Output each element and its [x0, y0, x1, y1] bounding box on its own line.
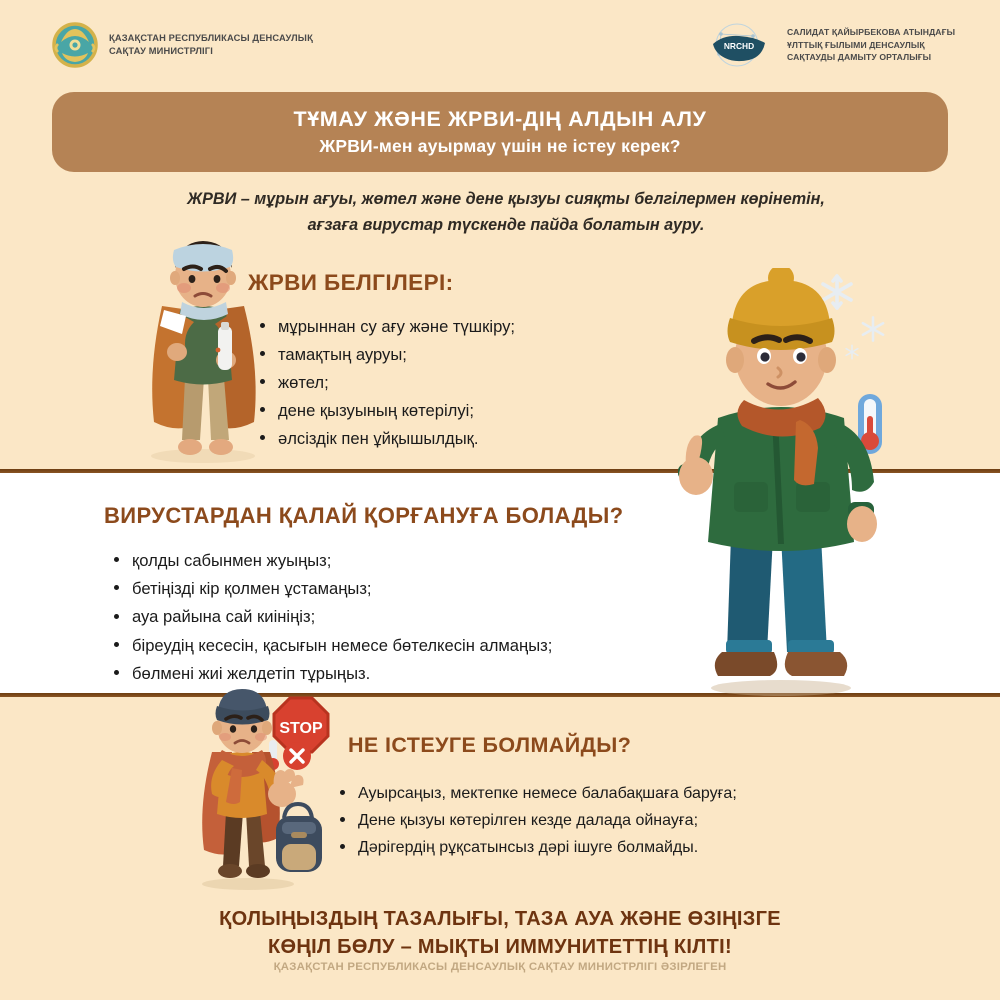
list-item: тамақтың ауруы;	[256, 341, 515, 369]
footer-slogan-line1: ҚОЛЫҢЫЗДЫҢ ТАЗАЛЫҒЫ, ТАЗА АУА ЖӘНЕ ӨЗІҢІ…	[150, 905, 850, 933]
banner-title: ТҰМАУ ЖӘНЕ ЖРВИ-ДІҢ АЛДЫН АЛУ	[293, 107, 706, 132]
symptoms-heading: ЖРВИ БЕЛГІЛЕРІ:	[248, 270, 454, 296]
ministry-logo-block: ҚАЗАҚСТАН РЕСПУБЛИКАСЫ ДЕНСАУЛЫҚ САҚТАУ …	[52, 22, 313, 68]
footer-slogan-line2: КӨҢІЛ БӨЛУ – МЫҚТЫ ИММУНИТЕТТІҢ КІЛТІ!	[150, 933, 850, 961]
list-item: дене қызуының көтерілуі;	[256, 397, 515, 425]
list-item: жөтел;	[256, 369, 515, 397]
ministry-logo-text: ҚАЗАҚСТАН РЕСПУБЛИКАСЫ ДЕНСАУЛЫҚ САҚТАУ …	[109, 32, 313, 58]
nrchd-logo-line3: САҚТАУДЫ ДАМЫТУ ОРТАЛЫҒЫ	[787, 51, 955, 63]
list-item: Дәрігердің рұқсатынсыз дәрі ішуге болмай…	[336, 834, 737, 861]
list-item: Ауырсаңыз, мектепке немесе балабақшаға б…	[336, 780, 737, 807]
avoid-heading: НЕ ІСТЕУГЕ БОЛМАЙДЫ?	[348, 733, 631, 758]
title-banner: ТҰМАУ ЖӘНЕ ЖРВИ-ДІҢ АЛДЫН АЛУ ЖРВИ-мен а…	[52, 92, 948, 172]
nrchd-logo-text: САЛИДАТ ҚАЙЫРБЕКОВА АТЫНДАҒЫ ҰЛТТЫҚ ҒЫЛЫ…	[787, 26, 955, 63]
protection-heading: ВИРУСТАРДАН ҚАЛАЙ ҚОРҒАНУҒА БОЛАДЫ?	[104, 503, 624, 529]
list-item: ауа райына сай киініңіз;	[110, 603, 552, 631]
nrchd-map-icon: NRCHD	[705, 22, 775, 68]
list-item: әлсіздік пен ұйқышылдық.	[256, 425, 515, 453]
list-item: бетіңізді кір қолмен ұстамаңыз;	[110, 575, 552, 603]
list-item: біреудің кесесін, қасығын немесе бөтелке…	[110, 632, 552, 660]
protection-list: қолды сабынмен жуыңыз; бетіңізді кір қол…	[110, 547, 552, 688]
avoid-list: Ауырсаңыз, мектепке немесе балабақшаға б…	[336, 780, 737, 862]
ministry-logo-line2: САҚТАУ МИНИСТРЛІГІ	[109, 45, 313, 58]
intro-paragraph: ЖРВИ – мұрын ағуы, жөтел және дене қызуы…	[180, 186, 832, 238]
nrchd-badge-text: NRCHD	[724, 41, 754, 51]
list-item: Дене қызуы көтерілген кезде далада ойнау…	[336, 807, 737, 834]
list-item: қолды сабынмен жуыңыз;	[110, 547, 552, 575]
ministry-logo-line1: ҚАЗАҚСТАН РЕСПУБЛИКАСЫ ДЕНСАУЛЫҚ	[109, 32, 313, 45]
list-item: мұрыннан су ағу және түшкіру;	[256, 313, 515, 341]
nrchd-logo-block: NRCHD САЛИДАТ ҚАЙЫРБЕКОВА АТЫНДАҒЫ ҰЛТТЫ…	[705, 22, 955, 68]
nrchd-logo-line2: ҰЛТТЫҚ ҒЫЛЫМИ ДЕНСАУЛЫҚ	[787, 39, 955, 51]
kazakhstan-emblem-icon	[52, 22, 98, 68]
nrchd-logo-line1: САЛИДАТ ҚАЙЫРБЕКОВА АТЫНДАҒЫ	[787, 26, 955, 38]
infographic-page: STOP	[0, 0, 1000, 1000]
banner-subtitle: ЖРВИ-мен ауырмау үшін не істеу керек?	[319, 136, 680, 157]
symptoms-list: мұрыннан су ағу және түшкіру; тамақтың а…	[256, 313, 515, 453]
list-item: бөлмені жиі желдетіп тұрыңыз.	[110, 660, 552, 688]
footer-slogan: ҚОЛЫҢЫЗДЫҢ ТАЗАЛЫҒЫ, ТАЗА АУА ЖӘНЕ ӨЗІҢІ…	[150, 905, 850, 962]
footer-credit: ҚАЗАҚСТАН РЕСПУБЛИКАСЫ ДЕНСАУЛЫҚ САҚТАУ …	[150, 961, 850, 973]
